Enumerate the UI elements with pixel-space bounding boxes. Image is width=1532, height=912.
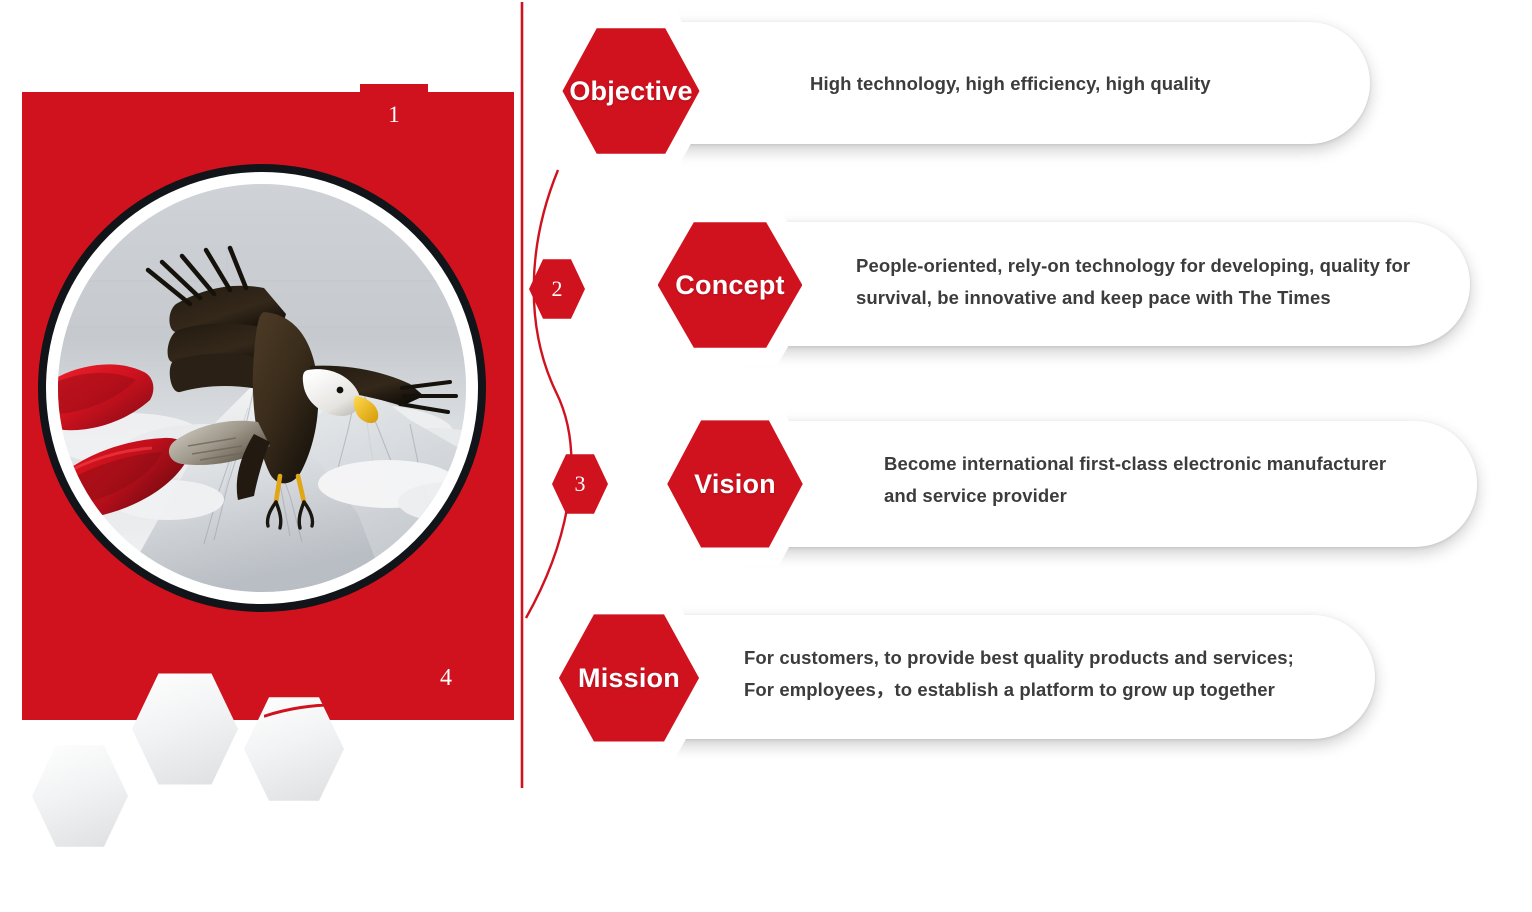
decor-hexagon-group bbox=[22, 666, 352, 846]
panel-number-4: 4 bbox=[408, 660, 484, 696]
card-vision-text: Become international first-class electro… bbox=[884, 448, 1444, 512]
infographic-canvas: 1 4 bbox=[0, 0, 1532, 912]
hex-badge-mission[interactable]: Mission bbox=[538, 594, 720, 762]
hex-label-mission: Mission bbox=[538, 594, 720, 762]
rail-marker-2: 2 bbox=[529, 258, 585, 320]
eagle-photo-illustration bbox=[58, 184, 466, 592]
hex-badge-vision[interactable]: Vision bbox=[647, 400, 823, 568]
card-mission-text: For customers, to provide best quality p… bbox=[744, 642, 1344, 706]
hex-label-vision: Vision bbox=[647, 400, 823, 568]
rail-marker-3-label: 3 bbox=[552, 453, 608, 515]
rail-marker-2-label: 2 bbox=[529, 258, 585, 320]
hexagon-decor-1 bbox=[32, 742, 128, 850]
hexagon-decor-2 bbox=[132, 670, 238, 788]
red-accent-line-icon bbox=[264, 704, 342, 718]
hex-label-concept: Concept bbox=[636, 202, 824, 368]
hex-badge-concept[interactable]: Concept bbox=[636, 202, 824, 368]
card-objective-text: High technology, high efficiency, high q… bbox=[810, 68, 1370, 100]
panel-number-1: 1 bbox=[360, 98, 428, 132]
card-concept-text: People-oriented, rely-on technology for … bbox=[856, 250, 1436, 314]
eagle-photo bbox=[58, 184, 466, 592]
eagle-photo-circle bbox=[38, 164, 486, 612]
rail-marker-3: 3 bbox=[552, 453, 608, 515]
hex-badge-objective[interactable]: Objective bbox=[542, 8, 720, 174]
hex-label-objective: Objective bbox=[542, 8, 720, 174]
